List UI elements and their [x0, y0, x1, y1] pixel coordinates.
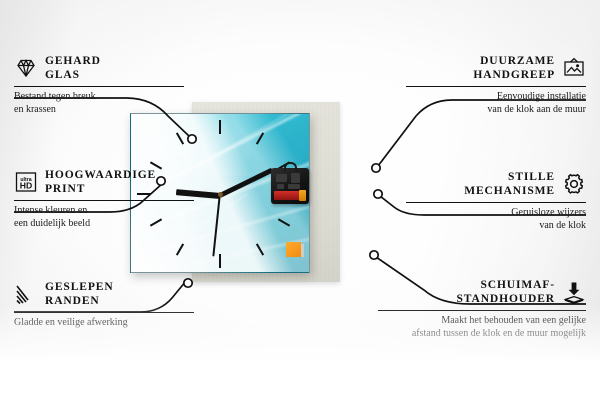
foam-spacer-pad	[286, 242, 301, 257]
gear-icon	[562, 172, 586, 196]
feature-title: GESLEPEN RANDEN	[45, 280, 114, 308]
feature-description: Bestand tegen breuk en krassen	[14, 91, 184, 117]
feature-title-row: GESLEPEN RANDEN	[14, 280, 194, 308]
battery-terminal	[299, 190, 306, 201]
divider	[14, 200, 194, 201]
divider	[406, 202, 586, 203]
battery	[274, 191, 305, 200]
feature-description: Intense kleuren en een duidelijk beeld	[14, 205, 194, 231]
foam-spacer-icon	[562, 280, 586, 304]
svg-text:HD: HD	[20, 181, 32, 191]
feature-duurzame-handgreep: DUURZAME HANDGREEP Eenvoudige installati…	[406, 54, 586, 117]
feature-title-row: SCHUIMAF- STANDHOUDER	[378, 278, 586, 306]
divider	[14, 86, 184, 87]
feature-hoogwaardige-print: ultra HD HOOGWAARDIGE PRINT Intense kleu…	[14, 168, 194, 231]
clock-tick	[219, 120, 221, 134]
feature-geslepen-randen: GESLEPEN RANDEN Gladde en veilige afwerk…	[14, 280, 194, 330]
product-feature-infographic: GEHARD GLAS Bestand tegen breuk en krass…	[0, 0, 600, 400]
feature-title-row: STILLE MECHANISME	[406, 170, 586, 198]
feature-title-row: ultra HD HOOGWAARDIGE PRINT	[14, 168, 194, 196]
feature-title: DUURZAME HANDGREEP	[473, 54, 555, 82]
feature-description: Geruisloze wijzers van de klok	[406, 207, 586, 233]
bevelled-edges-icon	[14, 282, 38, 306]
feature-schuimafstandhouder: SCHUIMAF- STANDHOUDER Maakt het behouden…	[378, 278, 586, 341]
feature-title: STILLE MECHANISME	[464, 170, 555, 198]
ultra-hd-icon: ultra HD	[14, 170, 38, 194]
hanger-loop-icon	[284, 162, 297, 171]
picture-hanger-icon	[562, 56, 586, 80]
feature-description: Eenvoudige installatie van de klok aan d…	[406, 91, 586, 117]
clock-tick	[219, 254, 221, 268]
divider	[406, 86, 586, 87]
feature-title: SCHUIMAF- STANDHOUDER	[456, 278, 555, 306]
feature-title-row: DUURZAME HANDGREEP	[406, 54, 586, 82]
clock-hub	[218, 192, 223, 197]
feature-stille-mechanisme: STILLE MECHANISME Geruisloze wijzers van…	[406, 170, 586, 233]
feature-description: Maakt het behouden van een gelijke afsta…	[378, 315, 586, 341]
feature-title: HOOGWAARDIGE PRINT	[45, 168, 156, 196]
feature-gehard-glas: GEHARD GLAS Bestand tegen breuk en krass…	[14, 54, 184, 117]
divider	[14, 312, 194, 313]
diamond-icon	[14, 56, 38, 80]
divider	[378, 310, 586, 311]
feature-title: GEHARD GLAS	[45, 54, 101, 82]
clock-mechanism	[271, 168, 309, 204]
feature-title-row: GEHARD GLAS	[14, 54, 184, 82]
feature-description: Gladde en veilige afwerking	[14, 317, 194, 330]
